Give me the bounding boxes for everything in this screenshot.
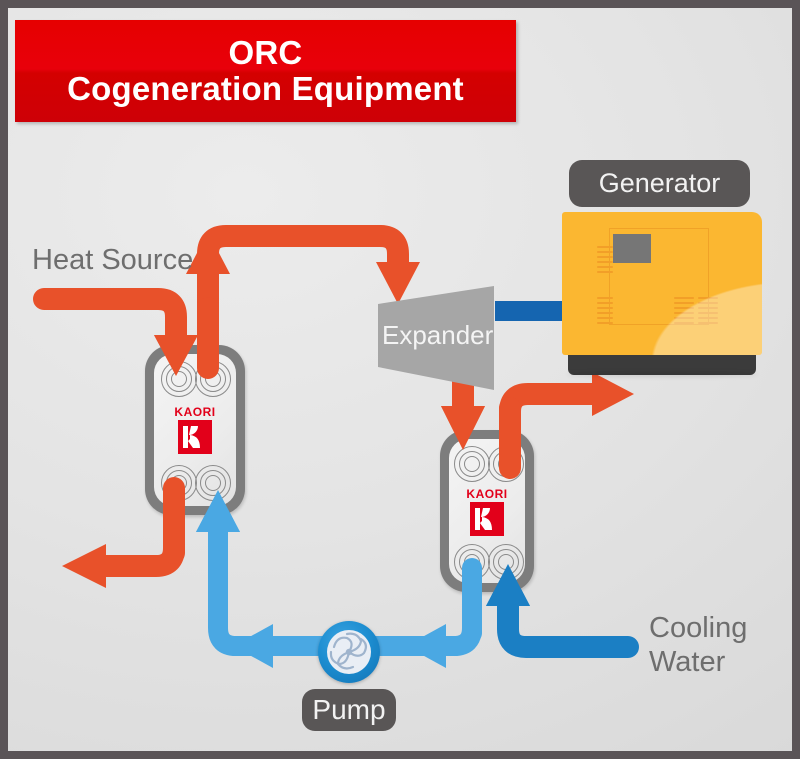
heat-source-label: Heat Source bbox=[32, 244, 193, 278]
cooling-water-line-1: Cooling bbox=[649, 612, 747, 646]
cooling-water-line-2: Water bbox=[649, 646, 747, 680]
title-banner: ORC Cogeneration Equipment bbox=[15, 20, 516, 122]
hx-left-port-bottom-right bbox=[195, 465, 229, 499]
expander-label: Expander bbox=[382, 320, 494, 351]
heat-exchanger-right[interactable]: KAORI bbox=[440, 430, 534, 592]
generator-shadow bbox=[566, 372, 758, 377]
cooling-water-label: Cooling Water bbox=[649, 612, 747, 679]
hx-left-port-top-left bbox=[161, 361, 195, 395]
hx-right-kaori-logo: KAORI bbox=[459, 488, 515, 536]
drive-shaft bbox=[495, 301, 565, 321]
kaori-mark-icon bbox=[178, 420, 212, 454]
generator-gloss-highlight bbox=[562, 212, 762, 355]
hx-right-port-bottom-left bbox=[454, 544, 488, 578]
title-line-2: Cogeneration Equipment bbox=[67, 71, 464, 107]
kaori-wordmark: KAORI bbox=[167, 406, 223, 418]
diagram-canvas: ORC Cogeneration Equipment bbox=[0, 0, 800, 759]
hx-left-port-top-right bbox=[195, 361, 229, 395]
flow-heat-source-return bbox=[62, 508, 174, 588]
kaori-wordmark: KAORI bbox=[459, 488, 515, 500]
hx-right-port-top-right bbox=[488, 446, 522, 480]
generator-unit[interactable] bbox=[562, 212, 762, 375]
hx-right-port-bottom-right bbox=[488, 544, 522, 578]
pump-label: Pump bbox=[302, 689, 396, 731]
kaori-mark-icon bbox=[470, 502, 504, 536]
generator-label: Generator bbox=[569, 160, 750, 207]
title-line-1: ORC bbox=[229, 35, 303, 71]
hx-left-kaori-logo: KAORI bbox=[167, 406, 223, 454]
pump-unit[interactable] bbox=[318, 621, 380, 683]
expander-unit[interactable]: Expander bbox=[376, 278, 496, 396]
hx-right-port-top-left bbox=[454, 446, 488, 480]
diagram-inner-background: ORC Cogeneration Equipment bbox=[8, 8, 792, 751]
pump-impeller-icon bbox=[327, 630, 371, 674]
heat-exchanger-left[interactable]: KAORI bbox=[145, 345, 245, 515]
hx-left-port-bottom-left bbox=[161, 465, 195, 499]
